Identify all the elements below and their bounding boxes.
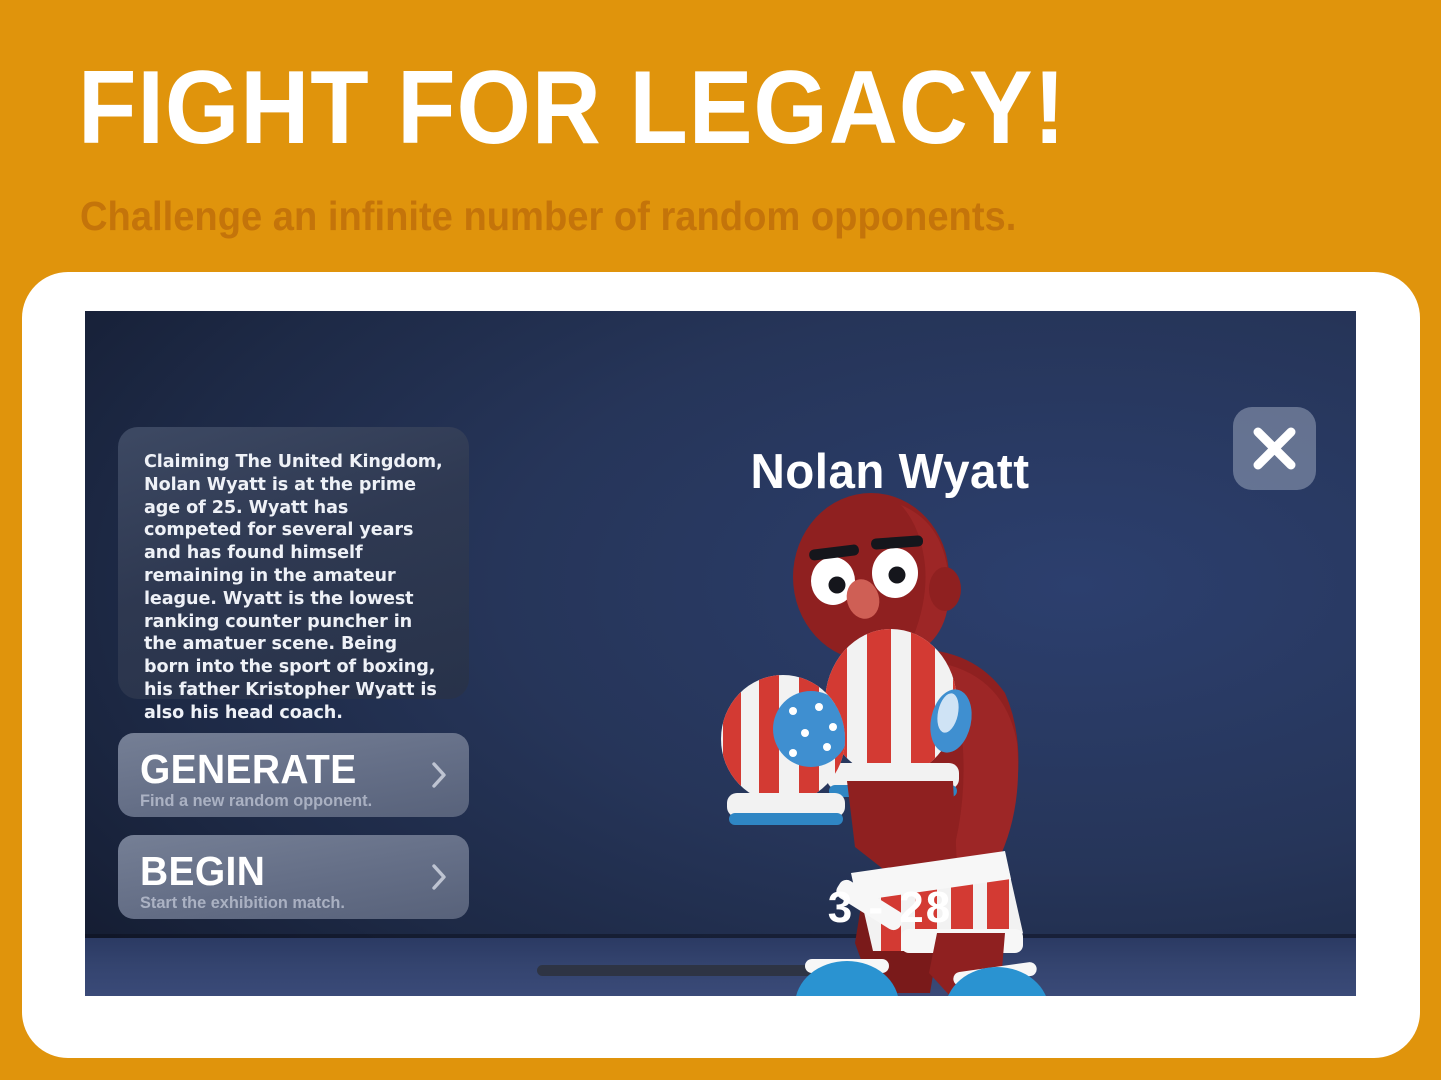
begin-button-label: BEGIN xyxy=(140,850,432,892)
chevron-right-icon xyxy=(431,864,447,890)
generate-button[interactable]: GENERATE Find a new random opponent. xyxy=(118,733,469,817)
generate-button-label: GENERATE xyxy=(140,748,432,790)
begin-button[interactable]: BEGIN Start the exhibition match. xyxy=(118,835,469,919)
fighter-record: 3 - 28 xyxy=(725,884,1055,932)
fighter-bio-panel: Claiming The United Kingdom, Nolan Wyatt… xyxy=(118,427,469,699)
chevron-right-icon xyxy=(431,762,447,788)
close-icon xyxy=(1233,407,1316,490)
page-subtitle: Challenge an infinite number of random o… xyxy=(80,192,1280,240)
page-title: FIGHT FOR LEGACY! xyxy=(78,56,1265,160)
page-root: FIGHT FOR LEGACY! Challenge an infinite … xyxy=(0,0,1441,1080)
tablet-screen: Nolan Wyatt 3 - 28 Claiming The United K… xyxy=(85,311,1356,996)
close-button[interactable] xyxy=(1233,407,1316,490)
generate-button-subtitle: Find a new random opponent. xyxy=(140,791,435,811)
begin-button-subtitle: Start the exhibition match. xyxy=(140,893,435,913)
fighter-bio-text: Claiming The United Kingdom, Nolan Wyatt… xyxy=(144,451,443,725)
